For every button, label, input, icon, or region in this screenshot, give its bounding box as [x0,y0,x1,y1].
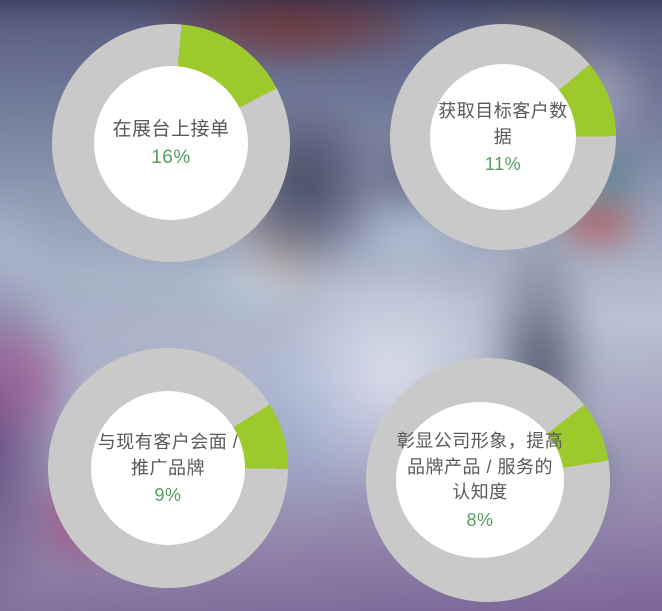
donut-chart-3: 彰显公司形象，提高 品牌产品 / 服务的 认知度 8% [366,358,610,602]
donut-value-0: 16% [151,147,191,169]
donut-center-2: 与现有客户会面 / 推广品牌 9% [91,391,245,545]
donut-label-1: 获取目标客户数据 [430,99,576,150]
donut-chart-grid: 在展台上接单 16% 获取目标客户数据 11% 与现有客户会面 / 推广品牌 9… [0,0,662,611]
donut-value-3: 8% [466,510,493,531]
donut-value-2: 9% [154,485,181,506]
donut-chart-0: 在展台上接单 16% [52,24,290,262]
donut-center-0: 在展台上接单 16% [94,66,248,220]
donut-value-1: 11% [485,154,521,175]
donut-label-0: 在展台上接单 [112,117,229,144]
donut-label-2: 与现有客户会面 / 推广品牌 [98,430,239,481]
donut-label-3: 彰显公司形象，提高 品牌产品 / 服务的 认知度 [397,429,564,506]
donut-center-3: 彰显公司形象，提高 品牌产品 / 服务的 认知度 8% [396,402,564,558]
infographic-slide: 在展台上接单 16% 获取目标客户数据 11% 与现有客户会面 / 推广品牌 9… [0,0,662,611]
donut-chart-1: 获取目标客户数据 11% [390,24,616,250]
donut-chart-2: 与现有客户会面 / 推广品牌 9% [48,348,288,588]
donut-center-1: 获取目标客户数据 11% [430,64,576,210]
